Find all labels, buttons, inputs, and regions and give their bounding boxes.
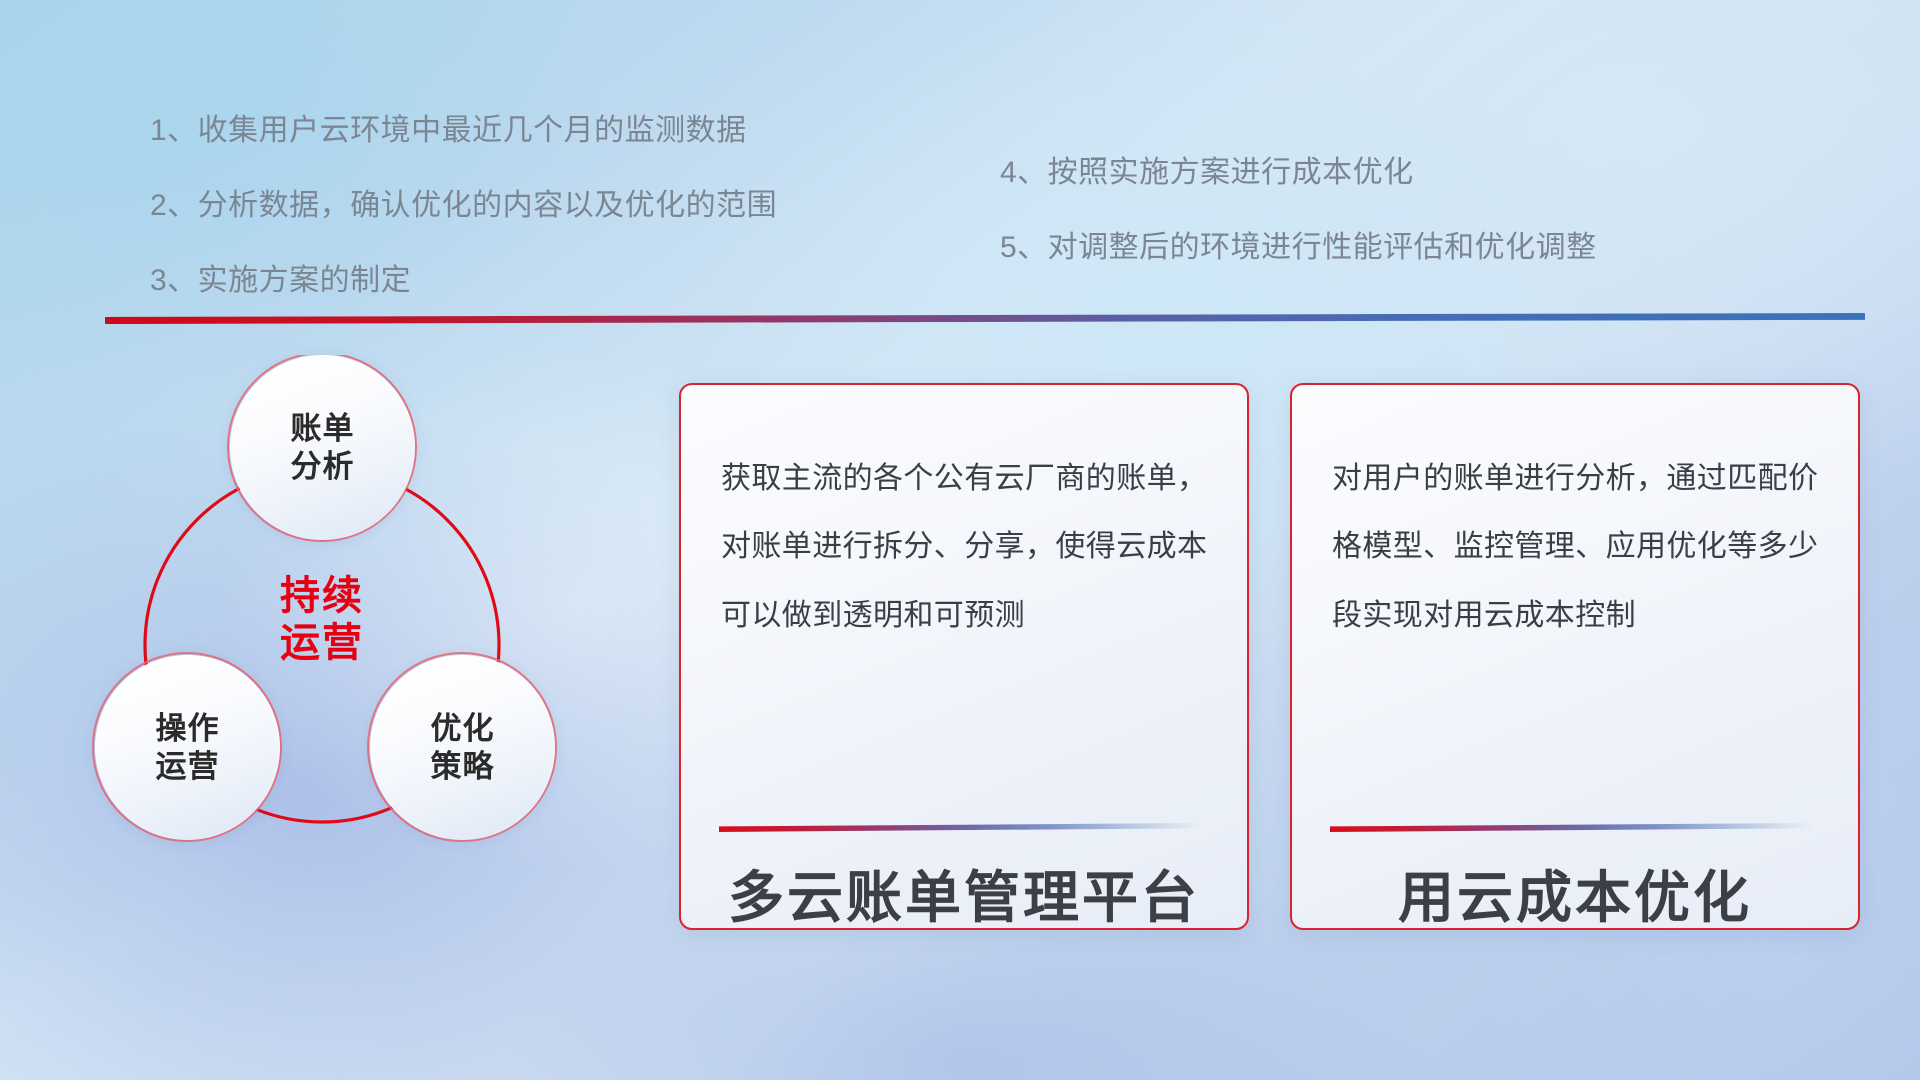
process-step-item: 1、收集用户云环境中最近几个月的监测数据 xyxy=(150,116,777,146)
card-title: 用云成本优化 xyxy=(1292,853,1858,930)
card-divider-rule xyxy=(1330,823,1816,832)
card-divider-rule xyxy=(719,823,1205,832)
process-step-item: 4、按照实施方案进行成本优化 xyxy=(1000,158,1597,188)
bubble-label-line1: 操作 xyxy=(156,711,220,746)
diagram-bubble-bill-analysis[interactable]: 账单 分析 xyxy=(230,355,415,540)
bubble-label-line1: 账单 xyxy=(291,411,355,446)
bubble-label-line2: 运营 xyxy=(156,749,220,784)
bubble-label-line2: 策略 xyxy=(431,749,495,784)
center-label-line2: 运营 xyxy=(280,621,364,665)
bubble-label-line1: 优化 xyxy=(431,711,495,746)
process-step-item: 3、实施方案的制定 xyxy=(150,266,777,296)
continuous-operation-diagram: 账单 分析 操作 运营 优化 策略 持续 运营 xyxy=(85,355,645,955)
diagram-bubble-optimization-strategy[interactable]: 优化 策略 xyxy=(370,655,555,840)
diagram-center-label: 持续 运营 xyxy=(237,573,407,667)
feature-card-cost-optimization[interactable]: 对用户的账单进行分析，通过匹配价格模型、监控管理、应用优化等多少段实现对用云成本… xyxy=(1290,383,1860,930)
process-step-list-left: 1、收集用户云环境中最近几个月的监测数据 2、分析数据，确认优化的内容以及优化的… xyxy=(150,116,777,296)
process-step-list-right: 4、按照实施方案进行成本优化 5、对调整后的环境进行性能评估和优化调整 xyxy=(1000,158,1597,263)
card-description: 获取主流的各个公有云厂商的账单，对账单进行拆分、分享，使得云成本可以做到透明和可… xyxy=(721,445,1213,650)
process-step-list: 1、收集用户云环境中最近几个月的监测数据 2、分析数据，确认优化的内容以及优化的… xyxy=(0,0,1920,300)
bubble-label: 操作 运营 xyxy=(156,710,220,786)
bubble-label: 优化 策略 xyxy=(431,710,495,786)
section-divider-rule xyxy=(105,313,1865,324)
process-step-item: 2、分析数据，确认优化的内容以及优化的范围 xyxy=(150,191,777,221)
center-label-line1: 持续 xyxy=(280,574,364,618)
feature-card-multicloud-billing[interactable]: 获取主流的各个公有云厂商的账单，对账单进行拆分、分享，使得云成本可以做到透明和可… xyxy=(679,383,1249,930)
bubble-label: 账单 分析 xyxy=(291,410,355,486)
process-step-item: 5、对调整后的环境进行性能评估和优化调整 xyxy=(1000,233,1597,263)
card-title: 多云账单管理平台 xyxy=(681,853,1247,930)
bubble-label-line2: 分析 xyxy=(291,449,355,484)
diagram-bubble-operations[interactable]: 操作 运营 xyxy=(95,655,280,840)
card-description: 对用户的账单进行分析，通过匹配价格模型、监控管理、应用优化等多少段实现对用云成本… xyxy=(1332,445,1824,650)
